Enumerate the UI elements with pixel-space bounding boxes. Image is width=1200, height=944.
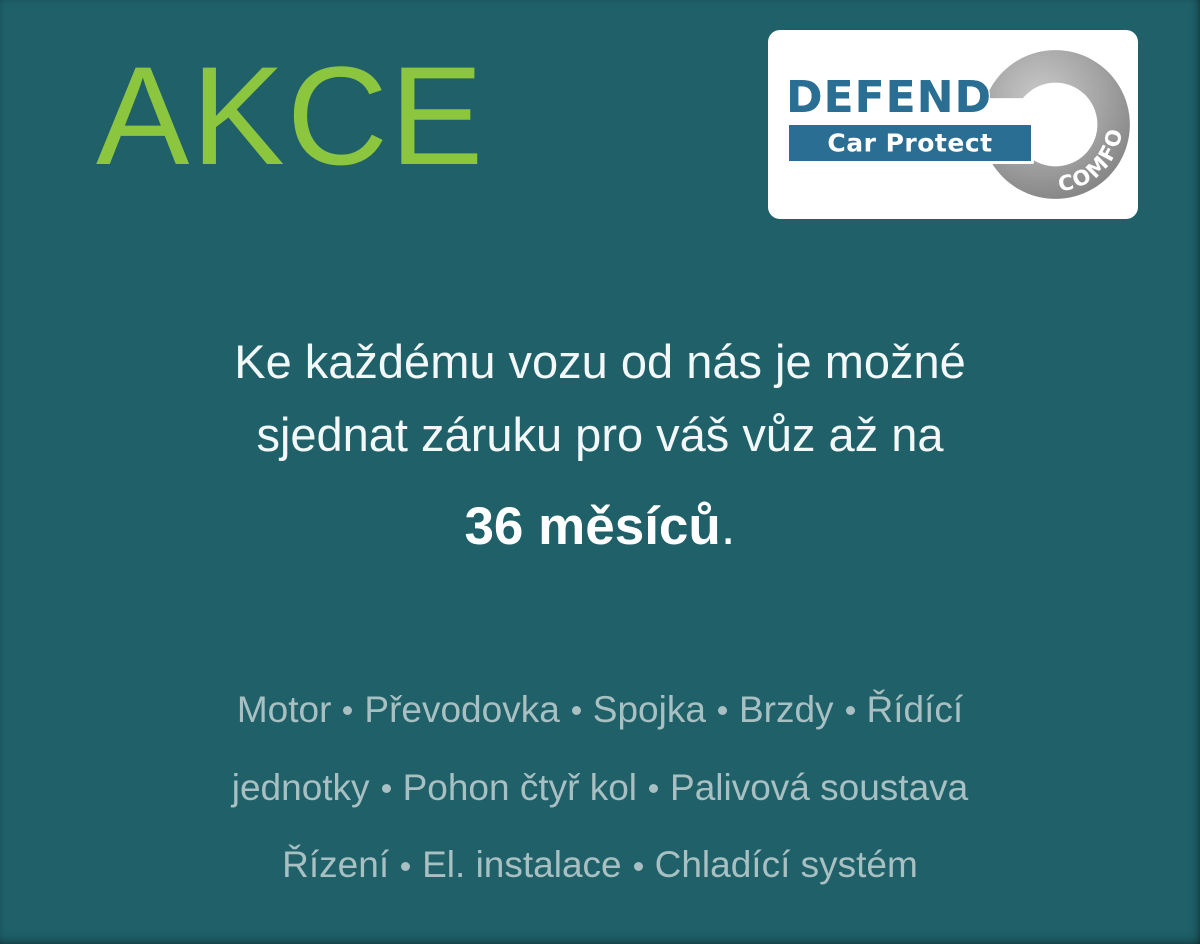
covered-part-item: jednotky: [232, 767, 370, 808]
defend-car-protect-logo: COMFORT DEFEND DEFEND Car Protect: [768, 30, 1138, 219]
offer-duration: 36 měsíců.: [0, 493, 1200, 561]
offer-duration-value: 36 měsíců: [464, 497, 720, 556]
covered-part-item: El. instalace: [422, 844, 622, 885]
car-protect-label: Car Protect: [789, 129, 1031, 158]
parts-separator-dot: [572, 675, 581, 750]
covered-part-item: Řídící: [867, 689, 964, 730]
defend-wordmark: DEFEND: [786, 75, 1054, 121]
covered-part-item: Brzdy: [739, 689, 834, 730]
car-protect-bar: Car Protect: [786, 122, 1034, 164]
parts-separator-dot: [634, 830, 643, 905]
covered-part-item: Motor: [237, 689, 332, 730]
logo-inner: COMFORT DEFEND DEFEND Car Protect: [768, 30, 1138, 219]
parts-separator-dot: [649, 752, 658, 827]
parts-separator-dot: [401, 830, 410, 905]
covered-part-item: Palivová soustava: [670, 767, 968, 808]
covered-parts-line-2: jednotkyPohon čtyř kolPalivová soustava: [70, 750, 1130, 828]
offer-description-line-2: sjednat záruku pro váš vůz až na: [0, 398, 1200, 471]
page-title: AKCE: [96, 46, 485, 186]
parts-separator-dot: [382, 752, 391, 827]
covered-part-item: Řízení: [282, 844, 389, 885]
parts-separator-dot: [846, 675, 855, 750]
covered-parts-line-1: MotorPřevodovkaSpojkaBrzdyŘídící: [70, 672, 1130, 750]
covered-part-item: Chladící systém: [655, 844, 918, 885]
parts-separator-dot: [343, 675, 352, 750]
covered-part-item: Spojka: [593, 689, 706, 730]
parts-separator-dot: [718, 675, 727, 750]
offer-description-line-1: Ke každému vozu od nás je možné: [0, 325, 1200, 398]
offer-duration-period: .: [721, 497, 736, 556]
covered-parts-line-3: ŘízeníEl. instalaceChladící systém: [70, 827, 1130, 905]
covered-parts-list: MotorPřevodovkaSpojkaBrzdyŘídící jednotk…: [70, 672, 1130, 905]
covered-part-item: Převodovka: [364, 689, 559, 730]
offer-description: Ke každému vozu od nás je možné sjednat …: [0, 325, 1200, 471]
covered-part-item: Pohon čtyř kol: [403, 767, 637, 808]
promo-slide: AKCE: [0, 0, 1200, 944]
